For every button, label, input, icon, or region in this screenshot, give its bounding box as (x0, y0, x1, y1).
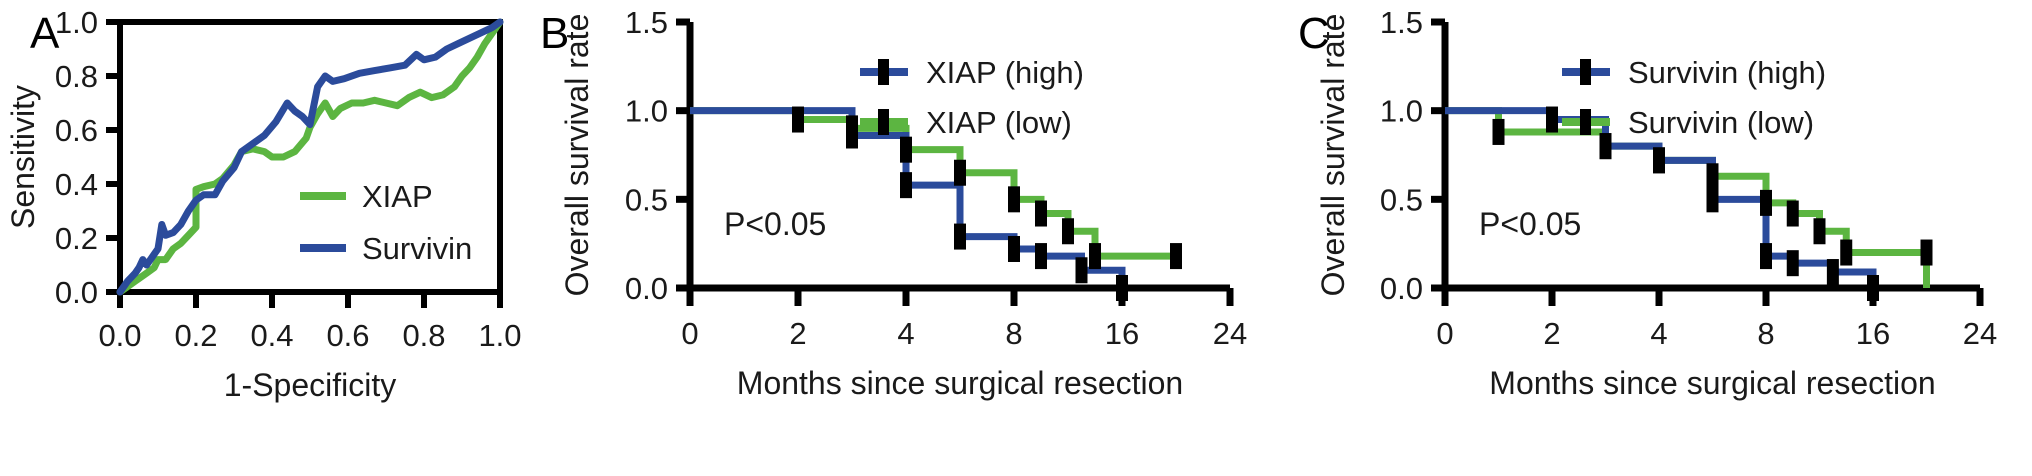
panel-b: B0.00.51.01.502481624Months since surgic… (530, 0, 1290, 476)
panel_b-x-tick-label: 2 (789, 316, 806, 351)
panel_c-censor-mark (1787, 201, 1799, 227)
panel_b-censor-mark (1076, 257, 1088, 283)
panel_b-legend-censor-icon (878, 59, 889, 85)
panel-a-y-tick-label: 0.2 (55, 221, 98, 256)
panel_c-censor-mark (1600, 133, 1612, 159)
panel-a-x-tick-label: 0.0 (98, 318, 141, 353)
panel-a-x-axis-title: 1-Specificity (224, 367, 397, 403)
panel_b-censor-mark (1035, 243, 1047, 269)
panel_b-x-tick-label: 16 (1105, 316, 1139, 351)
panel_b-censor-mark (1062, 218, 1074, 244)
panel_b-censor-mark (1035, 201, 1047, 227)
panel_c-x-tick-label: 24 (1963, 316, 1997, 351)
panel_b-censor-mark (1116, 275, 1128, 301)
panel-a-legend-label: Survivin (362, 231, 472, 266)
panel_c-x-axis-title: Months since surgical resection (1489, 365, 1935, 401)
panel_b-x-tick-label: 4 (897, 316, 914, 351)
panel_b-y-tick-label: 1.0 (625, 94, 668, 129)
panel_b-censor-mark (1089, 243, 1101, 269)
panel_c-censor-mark (1840, 240, 1852, 266)
panel_c-legend-censor-icon (1580, 109, 1591, 135)
panel-a-y-tick-label: 0.8 (55, 59, 98, 94)
panel_c-censor-mark (1787, 250, 1799, 276)
panel_c-y-axis-title: Overall survival rate (1315, 14, 1351, 297)
panel_c-x-tick-label: 4 (1650, 316, 1667, 351)
panel-a-x-tick-label: 0.4 (250, 318, 293, 353)
panel_b-y-tick-label: 0.5 (625, 182, 668, 217)
panel-a-x-tick-label: 0.2 (174, 318, 217, 353)
panel-b-chart: B0.00.51.01.502481624Months since surgic… (530, 0, 1290, 476)
panel_c-censor-mark (1653, 147, 1665, 173)
panel_b-censor-mark (1008, 236, 1020, 262)
panel-a-x-tick-label: 0.6 (326, 318, 369, 353)
panel_c-x-tick-label: 16 (1856, 316, 1890, 351)
panel_c-censor-mark (1493, 119, 1505, 145)
panel_b-y-axis-title: Overall survival rate (559, 14, 595, 297)
panel-a-y-tick-label: 0.6 (55, 113, 98, 148)
panel_b-censor-mark (900, 172, 912, 198)
panel-a-y-tick-label: 0.0 (55, 275, 98, 310)
figure-root: A0.00.20.40.60.81.00.00.20.40.60.81.01-S… (0, 0, 2032, 476)
panel_b-x-tick-label: 24 (1213, 316, 1247, 351)
panel-c: C0.00.51.01.502481624Months since surgic… (1290, 0, 2032, 476)
panel-a-x-tick-label: 0.8 (402, 318, 445, 353)
panel-a-y-tick-label: 0.4 (55, 167, 98, 202)
panel_c-censor-mark (1760, 190, 1772, 216)
panel_c-legend-label: Survivin (high) (1628, 55, 1826, 90)
panel_c-censor-mark (1546, 107, 1558, 133)
panel_b-censor-mark (1008, 186, 1020, 212)
panel_b-pvalue-annotation: P<0.05 (724, 206, 826, 242)
panel_c-x-tick-label: 0 (1436, 316, 1453, 351)
panel_b-x-axis-title: Months since surgical resection (737, 365, 1183, 401)
panel_b-censor-mark (954, 160, 966, 186)
panel-a-chart: A0.00.20.40.60.81.00.00.20.40.60.81.01-S… (0, 0, 530, 476)
panel_b-y-tick-label: 1.5 (625, 5, 668, 40)
panel_b-censor-mark (900, 137, 912, 163)
panel_b-censor-mark (1170, 243, 1182, 269)
panel_c-censor-mark (1760, 243, 1772, 269)
panel_b-censor-mark (846, 122, 858, 148)
panel_b-legend-label: XIAP (low) (926, 105, 1072, 140)
panel_c-y-tick-label: 0.0 (1380, 271, 1423, 306)
panel-a-y-tick-label: 1.0 (55, 5, 98, 40)
panel_c-legend-label: Survivin (low) (1628, 105, 1814, 140)
panel-a-legend-label: XIAP (362, 179, 433, 214)
panel_b-x-tick-label: 8 (1005, 316, 1022, 351)
panel-c-chart: C0.00.51.01.502481624Months since surgic… (1290, 0, 2032, 476)
panel-a-y-axis-title: Sensitivity (5, 85, 41, 229)
panel_b-legend-censor-icon (878, 109, 889, 135)
panel_b-y-tick-label: 0.0 (625, 271, 668, 306)
panel_b-censor-mark (954, 224, 966, 250)
panel_c-censor-mark (1707, 186, 1719, 212)
panel_c-x-tick-label: 8 (1757, 316, 1774, 351)
panel_c-pvalue-annotation: P<0.05 (1479, 206, 1581, 242)
panel_b-x-tick-label: 0 (681, 316, 698, 351)
panel_c-censor-mark (1867, 275, 1879, 301)
panel_c-censor-mark (1707, 163, 1719, 189)
panel_c-censor-mark (1814, 218, 1826, 244)
panel_c-censor-mark (1827, 259, 1839, 285)
panel-a-x-tick-label: 1.0 (478, 318, 521, 353)
panel_c-y-tick-label: 1.0 (1380, 94, 1423, 129)
panel_b-legend-label: XIAP (high) (926, 55, 1084, 90)
panel_c-y-tick-label: 0.5 (1380, 182, 1423, 217)
panel_b-censor-mark (792, 107, 804, 133)
panel_c-censor-mark (1921, 240, 1933, 266)
panel-a: A0.00.20.40.60.81.00.00.20.40.60.81.01-S… (0, 0, 530, 476)
panel_c-x-tick-label: 2 (1543, 316, 1560, 351)
panel_c-legend-censor-icon (1580, 59, 1591, 85)
panel_c-y-tick-label: 1.5 (1380, 5, 1423, 40)
